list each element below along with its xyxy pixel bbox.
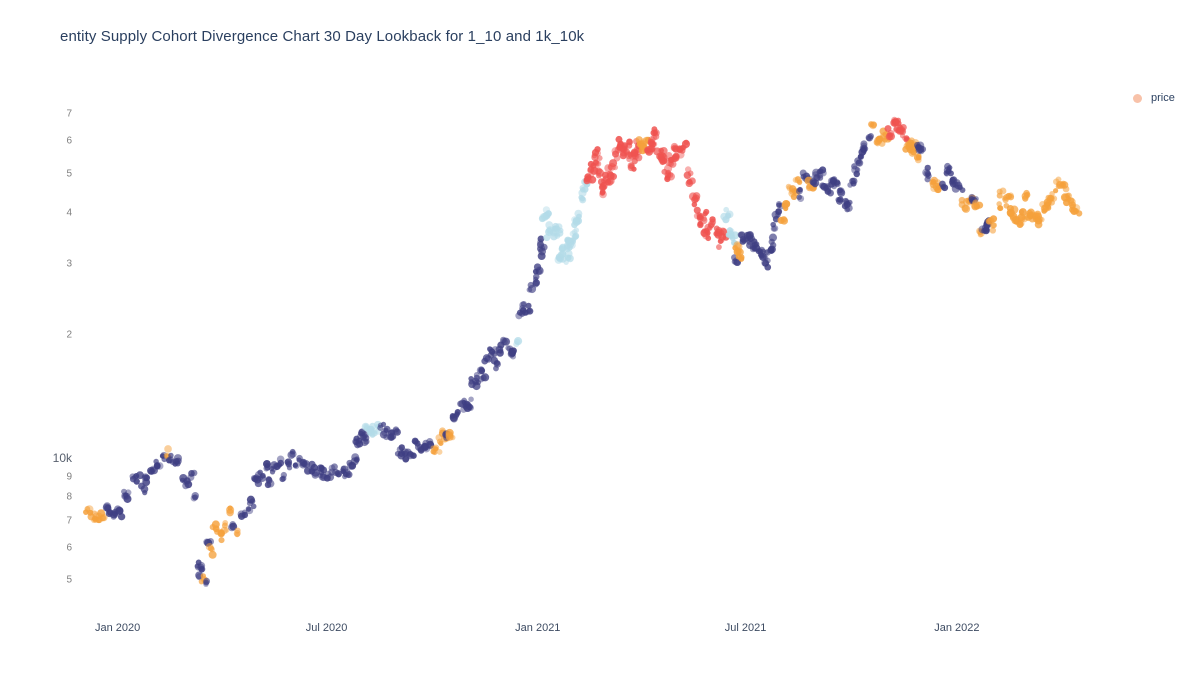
legend-marker-price-icon: [1133, 94, 1142, 103]
scatter-point: [287, 465, 292, 470]
scatter-point: [201, 573, 206, 578]
scatter-point: [900, 124, 907, 131]
scatter-point: [990, 215, 997, 222]
scatter-point: [346, 472, 351, 477]
scatter-point: [796, 188, 803, 195]
scatter-point: [247, 496, 255, 504]
scatter-point: [238, 513, 245, 520]
scatter-point: [565, 254, 572, 261]
scatter-point: [351, 457, 359, 465]
scatter-point: [164, 445, 172, 453]
scatter-point: [185, 481, 192, 488]
scatter-point: [1072, 204, 1080, 212]
plot-area[interactable]: [82, 95, 1082, 607]
scatter-point: [572, 234, 578, 240]
scatter-point: [726, 211, 734, 219]
scatter-point: [532, 281, 539, 288]
scatter-point: [664, 171, 671, 178]
scatter-point: [996, 201, 1002, 207]
scatter-point: [761, 259, 769, 267]
scatter-point: [775, 212, 781, 218]
scatter-point: [234, 527, 240, 533]
scatter-point: [971, 201, 979, 209]
scatter-point: [887, 132, 893, 138]
scatter-point: [466, 403, 473, 410]
scatter-point: [277, 456, 284, 463]
scatter-point: [944, 163, 951, 170]
scatter-point: [509, 348, 516, 355]
scatter-point: [772, 225, 779, 232]
scatter-point: [631, 166, 636, 171]
scatter-point: [817, 168, 823, 174]
scatter-point: [218, 537, 224, 543]
scatter-point: [1051, 195, 1057, 201]
scatter-point: [545, 210, 551, 216]
scatter-point: [1063, 186, 1070, 193]
scatter-point: [714, 226, 720, 232]
scatter-point: [1060, 181, 1066, 187]
scatter-point: [124, 495, 132, 503]
scatter-point: [701, 216, 707, 222]
scatter-point: [378, 423, 383, 428]
scatter-point: [212, 520, 220, 528]
scatter-point: [263, 460, 271, 468]
scatter-point: [498, 348, 503, 353]
scatter-point: [709, 216, 715, 222]
scatter-point: [797, 195, 804, 202]
scatter-point: [510, 354, 516, 360]
scatter-point: [939, 181, 946, 188]
scatter-point: [685, 166, 691, 172]
scatter-point: [836, 198, 843, 205]
scatter-point: [114, 505, 121, 512]
scatter-point: [658, 156, 665, 163]
scatter-point: [1024, 192, 1030, 198]
scatter-points-layer: [82, 95, 1082, 607]
scatter-point: [168, 453, 173, 458]
scatter-point: [246, 506, 251, 511]
scatter-point: [575, 217, 581, 223]
scatter-point: [957, 185, 963, 191]
scatter-point: [789, 188, 795, 194]
scatter-point: [682, 140, 690, 148]
scatter-point: [196, 559, 202, 565]
scatter-point: [433, 445, 439, 451]
scatter-point: [175, 461, 181, 467]
scatter-point: [847, 200, 852, 205]
scatter-point: [494, 360, 501, 367]
scatter-point: [454, 411, 460, 417]
scatter-point: [736, 248, 744, 256]
x-tick-label: Jul 2021: [725, 622, 767, 634]
x-tick-label: Jan 2020: [95, 622, 140, 634]
scatter-point: [513, 341, 519, 347]
scatter-point: [834, 180, 841, 187]
scatter-point: [287, 451, 295, 459]
scatter-point: [477, 366, 485, 374]
scatter-point: [687, 179, 693, 185]
scatter-point: [1007, 205, 1014, 212]
scatter-point: [222, 520, 228, 526]
legend[interactable]: price: [1133, 92, 1175, 104]
scatter-point: [981, 228, 987, 234]
scatter-point: [916, 145, 924, 153]
scatter-point: [407, 451, 415, 459]
scatter-point: [148, 468, 155, 475]
scatter-point: [600, 190, 606, 196]
scatter-point: [476, 380, 481, 385]
scatter-point: [593, 159, 599, 165]
scatter-point: [793, 177, 799, 183]
scatter-point: [133, 473, 139, 479]
scatter-point: [997, 189, 1003, 195]
scatter-point: [769, 234, 777, 242]
scatter-point: [573, 227, 579, 233]
scatter-point: [614, 155, 621, 162]
scatter-point: [142, 473, 149, 480]
scatter-point: [866, 136, 871, 141]
scatter-point: [869, 122, 876, 129]
scatter-point: [85, 506, 91, 512]
chart-container: entity Supply Cohort Divergence Chart 30…: [0, 0, 1200, 695]
scatter-point: [526, 308, 531, 313]
scatter-point: [445, 431, 453, 439]
scatter-point: [187, 474, 194, 481]
scatter-point: [1068, 197, 1075, 204]
scatter-point: [556, 230, 563, 237]
scatter-point: [732, 259, 738, 265]
scatter-point: [574, 210, 582, 218]
scatter-point: [635, 154, 642, 161]
scatter-point: [336, 472, 341, 477]
scatter-point: [198, 566, 204, 572]
scatter-point: [284, 459, 290, 465]
scatter-point: [776, 201, 782, 207]
scatter-point: [684, 172, 691, 179]
scatter-point: [813, 174, 821, 182]
scatter-point: [607, 172, 615, 180]
scatter-point: [780, 217, 788, 225]
scatter-point: [718, 233, 726, 241]
x-tick-label: Jan 2021: [515, 622, 560, 634]
scatter-point: [1008, 192, 1014, 198]
scatter-point: [861, 147, 867, 153]
scatter-point: [990, 222, 996, 228]
scatter-point: [537, 239, 543, 245]
scatter-point: [851, 178, 858, 185]
x-tick-label: Jan 2022: [934, 622, 979, 634]
scatter-point: [383, 428, 388, 433]
scatter-point: [209, 547, 215, 553]
scatter-point: [301, 461, 307, 467]
scatter-point: [1010, 215, 1017, 222]
scatter-point: [703, 209, 709, 215]
scatter-point: [692, 202, 698, 208]
scatter-point: [226, 506, 234, 514]
scatter-point: [1019, 209, 1024, 214]
scatter-point: [579, 196, 586, 203]
scatter-point: [390, 433, 397, 440]
scatter-point: [851, 166, 859, 174]
scatter-point: [782, 202, 789, 209]
scatter-point: [534, 263, 541, 270]
scatter-point: [923, 170, 931, 178]
scatter-point: [652, 129, 659, 136]
scatter-point: [1035, 221, 1043, 229]
scatter-point: [276, 462, 282, 468]
scatter-point: [860, 140, 867, 147]
scatter-point: [481, 373, 489, 381]
scatter-point: [203, 581, 209, 587]
scatter-point: [589, 176, 597, 184]
scatter-point: [727, 227, 733, 233]
scatter-point: [969, 194, 975, 200]
x-tick-label: Jul 2020: [306, 622, 348, 634]
scatter-point: [230, 521, 236, 527]
scatter-point: [293, 462, 300, 469]
scatter-point: [948, 170, 954, 176]
scatter-point: [468, 396, 474, 402]
scatter-point: [914, 154, 921, 161]
scatter-point: [599, 184, 605, 190]
legend-label-price[interactable]: price: [1151, 92, 1175, 104]
scatter-point: [961, 205, 968, 212]
scatter-point: [266, 477, 273, 484]
scatter-point: [192, 492, 199, 499]
scatter-point: [627, 139, 633, 145]
scatter-point: [502, 338, 510, 346]
scatter-point: [764, 249, 771, 256]
scatter-point: [837, 187, 845, 195]
scatter-point: [567, 244, 573, 250]
scatter-point: [156, 462, 164, 470]
scatter-point: [716, 244, 722, 250]
scatter-point: [281, 476, 287, 482]
scatter-point: [260, 473, 266, 479]
